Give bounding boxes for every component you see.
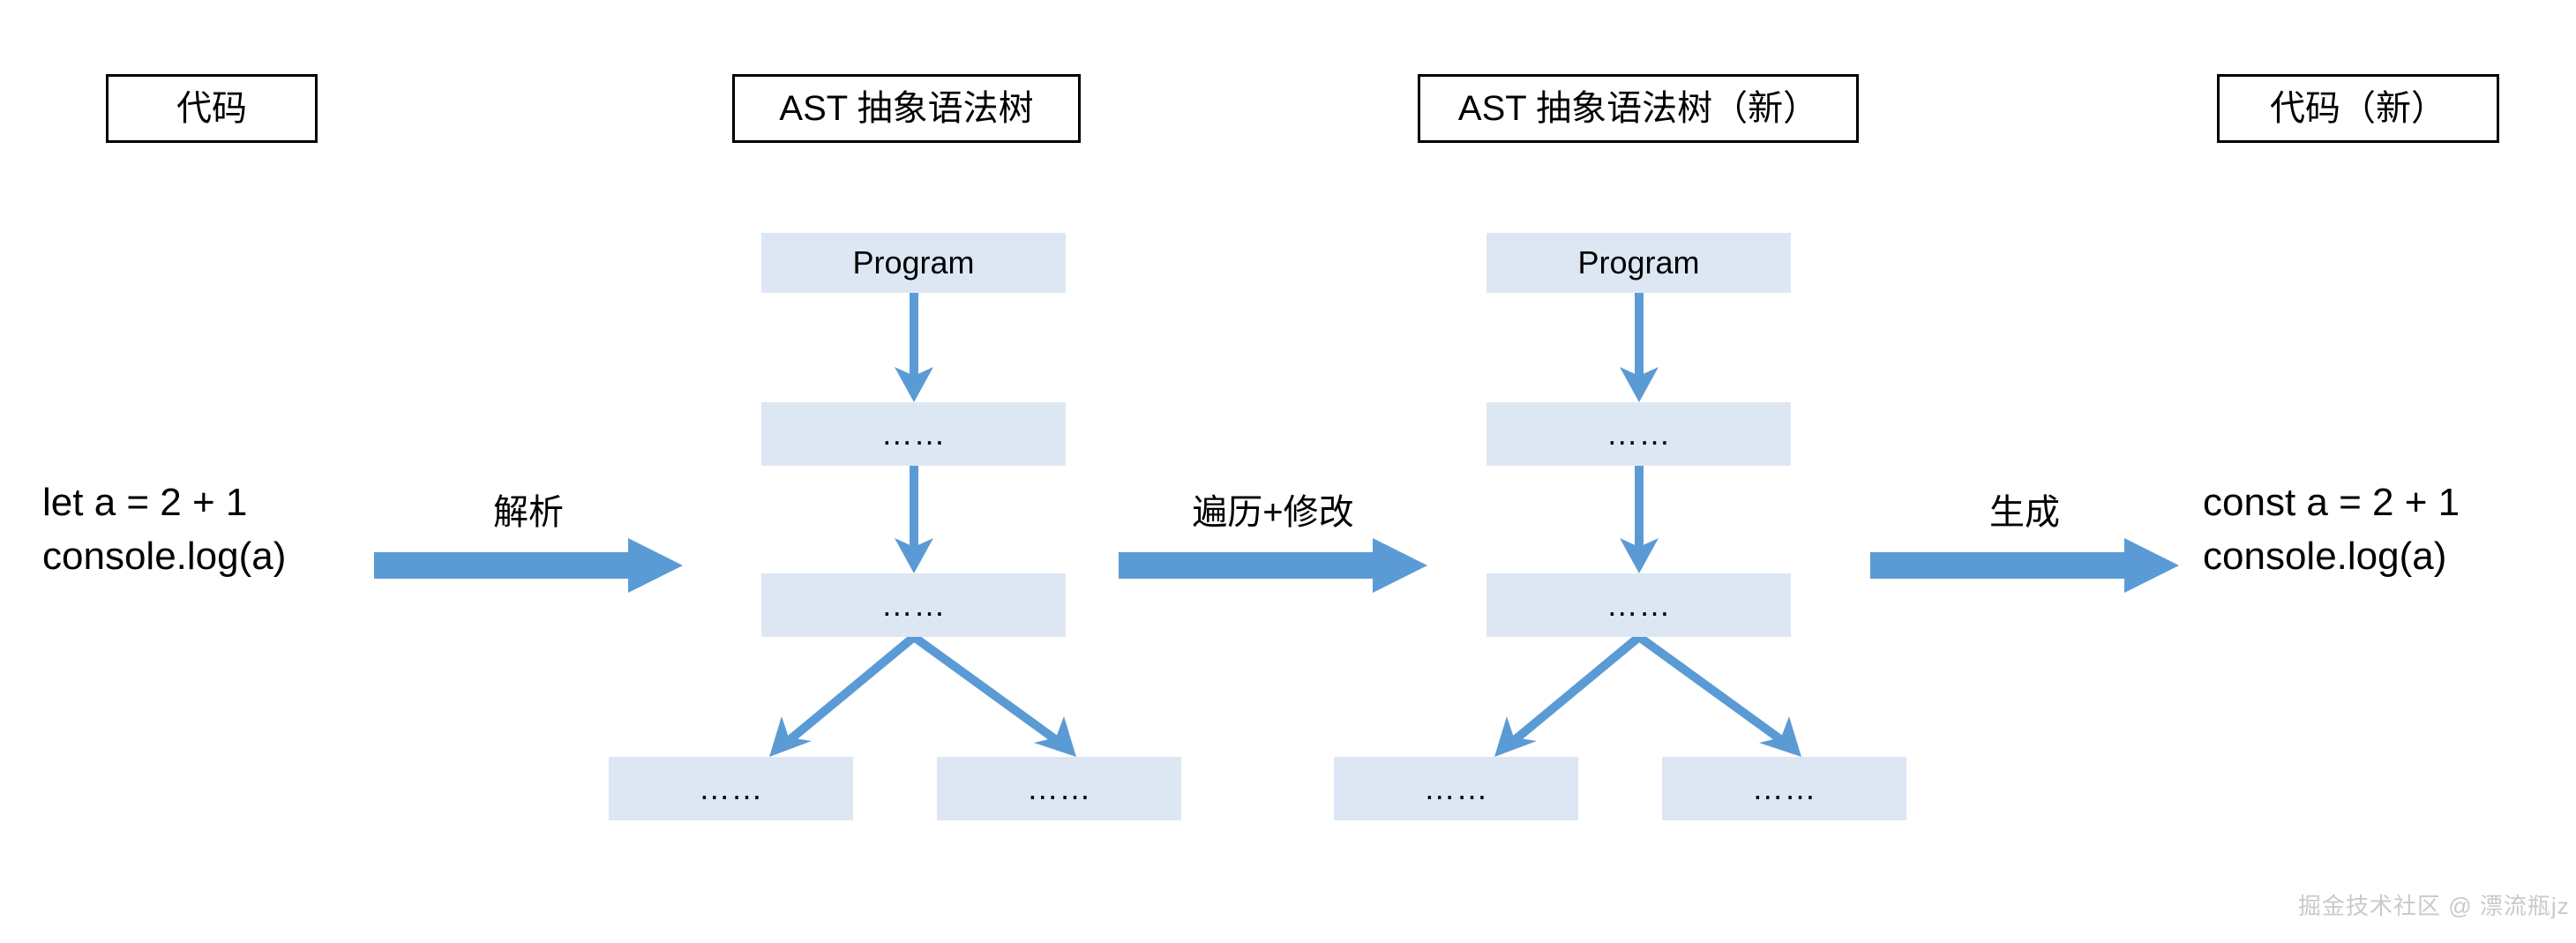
- ast-node-label: Program: [852, 247, 974, 279]
- ast-node-leaf-right: ……: [1662, 757, 1906, 820]
- ast-tree-modified: Program …… …… …… ……: [1412, 221, 2047, 838]
- source-code-line-1: let a = 2 + 1: [42, 476, 286, 530]
- output-code-text: const a = 2 + 1 console.log(a): [2203, 476, 2460, 583]
- caption-label: AST 抽象语法树（新）: [1458, 91, 1818, 126]
- ast-node-label: ……: [1606, 418, 1671, 450]
- caption-box-code-new: 代码（新）: [2217, 74, 2499, 143]
- ast-node-label: ……: [1424, 773, 1488, 805]
- arrow-level2-to-level3: [1620, 466, 1659, 573]
- ast-node-label: ……: [1027, 773, 1091, 805]
- arrow-level3-to-leaf-right: [1639, 637, 1801, 757]
- ast-node-root: Program: [1486, 233, 1791, 293]
- tree-connectors: [618, 221, 1253, 838]
- ast-node-root: Program: [761, 233, 1066, 293]
- arrow-root-to-level2: [1620, 293, 1659, 402]
- tree-connectors: [1412, 221, 2047, 838]
- ast-node-label: ……: [881, 418, 946, 450]
- ast-node-label: ……: [881, 589, 946, 621]
- caption-box-code: 代码: [106, 74, 318, 143]
- ast-node-level2: ……: [761, 402, 1066, 466]
- caption-label: AST 抽象语法树: [779, 91, 1033, 126]
- output-code-line-2: console.log(a): [2203, 530, 2460, 584]
- ast-node-label: ……: [1606, 589, 1671, 621]
- ast-tree-original: Program …… …… …… ……: [618, 221, 1253, 838]
- arrow-level3-to-leaf-left: [1494, 637, 1639, 757]
- ast-node-label: Program: [1577, 247, 1699, 279]
- caption-box-ast-new: AST 抽象语法树（新）: [1418, 74, 1859, 143]
- diagram-canvas: 代码 AST 抽象语法树 AST 抽象语法树（新） 代码（新） let a = …: [0, 0, 2576, 943]
- arrow-level3-to-leaf-left: [769, 637, 914, 757]
- ast-node-leaf-right: ……: [937, 757, 1181, 820]
- arrow-level2-to-level3: [895, 466, 933, 573]
- source-code-text: let a = 2 + 1 console.log(a): [42, 476, 286, 583]
- ast-node-leaf-left: ……: [1334, 757, 1578, 820]
- arrow-root-to-level2: [895, 293, 933, 402]
- ast-node-label: ……: [699, 773, 763, 805]
- source-code-line-2: console.log(a): [42, 530, 286, 584]
- output-code-line-1: const a = 2 + 1: [2203, 476, 2460, 530]
- caption-label: 代码（新）: [2270, 91, 2446, 126]
- watermark: 掘金技术社区 @ 漂流瓶jz: [2298, 888, 2570, 921]
- arrow-level3-to-leaf-right: [914, 637, 1076, 757]
- caption-box-ast: AST 抽象语法树: [732, 74, 1081, 143]
- ast-node-level3: ……: [1486, 573, 1791, 637]
- ast-node-label: ……: [1752, 773, 1816, 805]
- ast-node-leaf-left: ……: [609, 757, 853, 820]
- caption-label: 代码: [176, 91, 247, 126]
- ast-node-level3: ……: [761, 573, 1066, 637]
- ast-node-level2: ……: [1486, 402, 1791, 466]
